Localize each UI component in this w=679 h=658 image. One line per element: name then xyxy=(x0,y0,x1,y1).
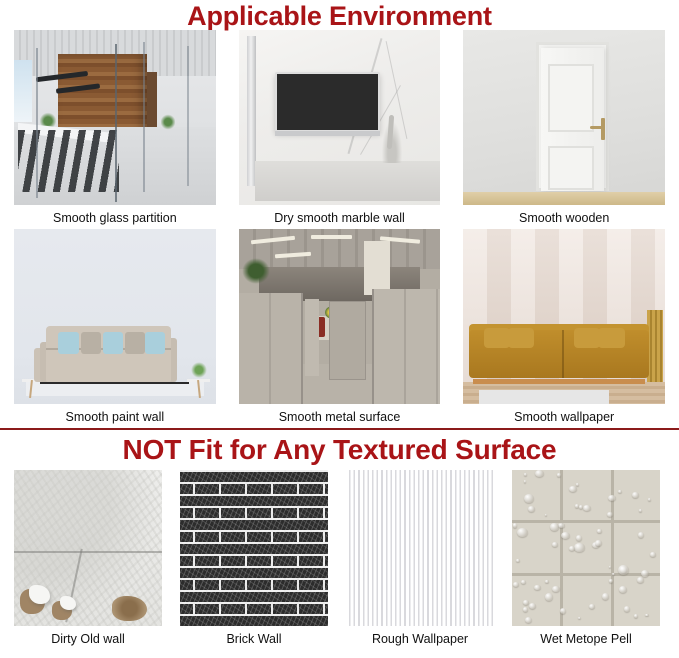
decorative-sculpture xyxy=(380,115,404,163)
exposed-patch xyxy=(112,596,148,621)
page-title-applicable-environment: Applicable Environment xyxy=(0,0,679,30)
not-fit-row-1: Dirty Old wall Brick Wall Rough Wallpape… xyxy=(0,470,679,650)
door-panel-upper xyxy=(548,64,594,132)
image-caption: Dirty Old wall xyxy=(14,626,162,650)
office-chairs xyxy=(18,130,119,192)
brick-texture-noise xyxy=(180,470,328,626)
glass-partition-edge xyxy=(187,46,189,186)
grid-item-dry-smooth-marble-wall: Dry smooth marble wall xyxy=(239,30,441,229)
image-caption: Wet Metope Pell xyxy=(512,626,660,650)
window xyxy=(14,60,32,122)
grid-item-dirty-old-wall: Dirty Old wall xyxy=(14,470,162,650)
floor-mat xyxy=(479,390,608,404)
grid-item-smooth-metal-surface: Smooth metal surface xyxy=(239,229,441,428)
painted-wall-sofa-photo xyxy=(14,229,216,404)
bamboo-decor xyxy=(647,310,663,384)
cushion xyxy=(484,328,510,348)
pinstripe-wallpaper-photo xyxy=(346,470,494,626)
grid-item-brick-wall: Brick Wall xyxy=(180,470,328,650)
office-glass-partition-photo xyxy=(14,30,216,205)
rug xyxy=(26,382,203,396)
marble-wall-tv-photo xyxy=(239,30,441,205)
sofa-base xyxy=(473,379,644,384)
image-caption: Smooth metal surface xyxy=(239,404,441,428)
image-caption: Smooth wallpaper xyxy=(463,404,665,428)
image-caption: Brick Wall xyxy=(180,626,328,650)
image-caption: Rough Wallpaper xyxy=(346,626,494,650)
grid-item-smooth-wooden: Smooth wooden xyxy=(463,30,665,229)
wet-tile-droplets-photo xyxy=(512,470,660,626)
grid-item-rough-wallpaper: Rough Wallpaper xyxy=(346,470,494,650)
cushion xyxy=(81,332,101,354)
white-wooden-door-photo xyxy=(463,30,665,205)
sofa-seam xyxy=(562,330,564,378)
console-cabinet xyxy=(255,161,441,201)
grid-item-wet-metope-pell: Wet Metope Pell xyxy=(512,470,660,650)
glass-partition-edge xyxy=(36,48,38,198)
page-title-not-fit: NOT Fit for Any Textured Surface xyxy=(0,430,679,470)
cushion xyxy=(508,328,534,348)
wall-mounted-tv xyxy=(275,72,380,132)
image-caption: Dry smooth marble wall xyxy=(239,205,441,229)
crack xyxy=(14,551,162,553)
striped-wallpaper-sofa-photo xyxy=(463,229,665,404)
cushion xyxy=(574,328,600,348)
applicable-row-1: Smooth glass partition Dry smooth marble… xyxy=(0,30,679,229)
cushion xyxy=(58,332,78,354)
metal-lockers-right xyxy=(372,289,441,404)
ceiling-light xyxy=(311,235,351,239)
image-caption: Smooth wooden xyxy=(463,205,665,229)
dark-brick-wall-photo xyxy=(180,470,328,626)
peeling-plaster-photo xyxy=(14,470,162,626)
wood-floor-strip xyxy=(463,192,665,205)
column xyxy=(364,241,390,295)
metal-lockers-left xyxy=(239,293,304,404)
door-panel-lower xyxy=(548,146,594,190)
cushion xyxy=(103,332,123,354)
cushion xyxy=(598,328,624,348)
cubicle-divider xyxy=(305,299,319,376)
grid-item-smooth-glass-partition: Smooth glass partition xyxy=(14,30,216,229)
cushion xyxy=(145,332,165,354)
potted-plant xyxy=(190,361,208,379)
image-caption: Smooth glass partition xyxy=(14,205,216,229)
water-droplets xyxy=(512,470,660,626)
glass-partition-edge xyxy=(143,42,145,192)
metal-cubicle-panel xyxy=(329,301,365,380)
grid-item-smooth-paint-wall: Smooth paint wall xyxy=(14,229,216,428)
door-lock-plate xyxy=(601,118,605,140)
applicable-row-2: Smooth paint wall Smooth metal surface xyxy=(0,229,679,428)
glass-partition-edge xyxy=(115,44,117,202)
metal-lockers-office-photo xyxy=(239,229,441,404)
rug-edge-line xyxy=(40,382,189,384)
image-caption: Smooth paint wall xyxy=(14,404,216,428)
plant xyxy=(161,112,175,132)
tv-mount-base xyxy=(275,131,380,136)
cushion xyxy=(125,332,145,354)
paint-flake xyxy=(29,585,50,604)
grid-item-smooth-wallpaper: Smooth wallpaper xyxy=(463,229,665,428)
plant xyxy=(241,257,271,285)
